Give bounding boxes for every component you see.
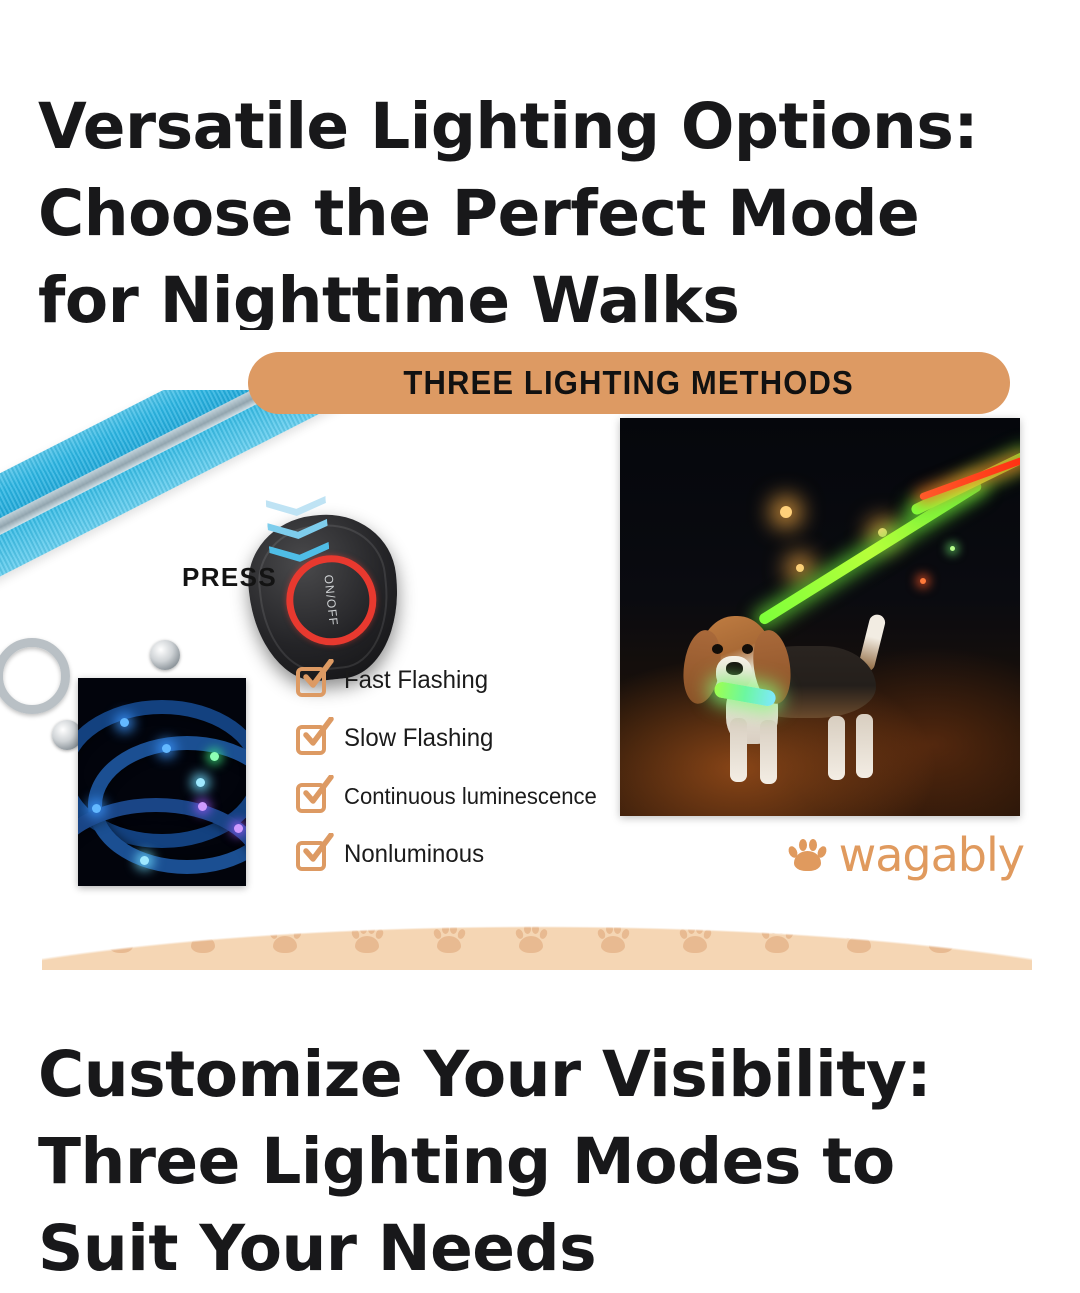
checklist-item[interactable]: Slow Flashing bbox=[296, 718, 607, 758]
street-light bbox=[780, 506, 792, 518]
led-light bbox=[140, 856, 149, 865]
beagle-dog bbox=[678, 568, 928, 798]
dog-eye bbox=[712, 644, 723, 654]
brand-logo: wagably bbox=[787, 828, 1024, 882]
lighting-modes-checklist: Fast Flashing Slow Flashing Continuous l… bbox=[296, 660, 607, 892]
checkbox-checked-icon[interactable] bbox=[296, 837, 330, 871]
led-light bbox=[234, 824, 243, 833]
paw-print-icon bbox=[718, 877, 752, 907]
paw-print-icon bbox=[787, 838, 827, 872]
check-mark-icon bbox=[300, 833, 334, 867]
paw-print-icon bbox=[678, 850, 712, 860]
page-title-bottom: Customize Your Visibility: Three Lightin… bbox=[38, 1032, 1038, 1293]
led-light bbox=[92, 804, 101, 813]
dog-leg bbox=[856, 714, 873, 778]
glowing-collar-inset-photo bbox=[78, 678, 246, 886]
banner-title-text: THREE LIGHTING METHODS bbox=[404, 364, 854, 402]
paw-print-icon bbox=[350, 924, 384, 954]
check-mark-icon bbox=[300, 659, 334, 693]
street-light bbox=[950, 546, 955, 551]
dog-leg bbox=[760, 720, 777, 784]
checkbox-checked-icon[interactable] bbox=[296, 779, 330, 813]
paw-print-icon bbox=[1006, 924, 1032, 954]
checklist-item[interactable]: Nonluminous bbox=[296, 834, 607, 874]
page-title-top: Versatile Lighting Options: Choose the P… bbox=[38, 84, 1038, 345]
dog-nose bbox=[726, 662, 743, 675]
checklist-item[interactable]: Fast Flashing bbox=[296, 660, 607, 700]
checkbox-checked-icon[interactable] bbox=[296, 721, 330, 755]
collar-rivet bbox=[150, 640, 180, 670]
checkbox-checked-icon[interactable] bbox=[296, 663, 330, 697]
press-arrow-icon bbox=[266, 496, 331, 569]
paw-print-icon bbox=[760, 924, 794, 954]
paw-print-icon bbox=[924, 924, 958, 954]
led-light bbox=[198, 802, 207, 811]
dog-eye bbox=[742, 644, 753, 654]
banner-title-pill: THREE LIGHTING METHODS bbox=[248, 352, 1010, 414]
infographic-card: ON/OFF PRESS THREE LIGHTING METHODS bbox=[0, 330, 1080, 970]
paw-print-icon bbox=[104, 924, 138, 954]
led-light bbox=[196, 778, 205, 787]
led-light bbox=[162, 744, 171, 753]
press-instruction-label: PRESS bbox=[182, 562, 277, 593]
paw-print-icon bbox=[678, 924, 712, 954]
checklist-item-label: Slow Flashing bbox=[344, 724, 493, 753]
checklist-item-label: Nonluminous bbox=[344, 840, 484, 869]
paw-print-icon bbox=[842, 924, 876, 954]
leash-loop bbox=[78, 798, 246, 886]
paw-print-icon bbox=[42, 924, 56, 954]
brand-name: wagably bbox=[839, 828, 1024, 882]
paw-print-icon bbox=[186, 924, 220, 954]
paw-print-icon bbox=[596, 924, 630, 954]
check-mark-icon bbox=[300, 717, 334, 751]
check-mark-icon bbox=[300, 775, 334, 809]
on-off-button-label: ON/OFF bbox=[322, 574, 341, 627]
paw-print-icon bbox=[514, 924, 548, 954]
checklist-item[interactable]: Continuous luminescence bbox=[296, 776, 607, 816]
paw-print-icon bbox=[432, 924, 466, 954]
led-light bbox=[210, 752, 219, 761]
checklist-item-label: Continuous luminescence bbox=[344, 783, 597, 810]
dog-leg bbox=[828, 716, 845, 780]
collar-d-ring bbox=[0, 638, 70, 714]
dog-at-night-photo bbox=[620, 418, 1020, 816]
paw-print-icon bbox=[636, 877, 670, 907]
dog-leg bbox=[730, 718, 747, 782]
checklist-item-label: Fast Flashing bbox=[344, 666, 488, 695]
led-light bbox=[120, 718, 129, 727]
paw-print-icon bbox=[268, 924, 302, 954]
